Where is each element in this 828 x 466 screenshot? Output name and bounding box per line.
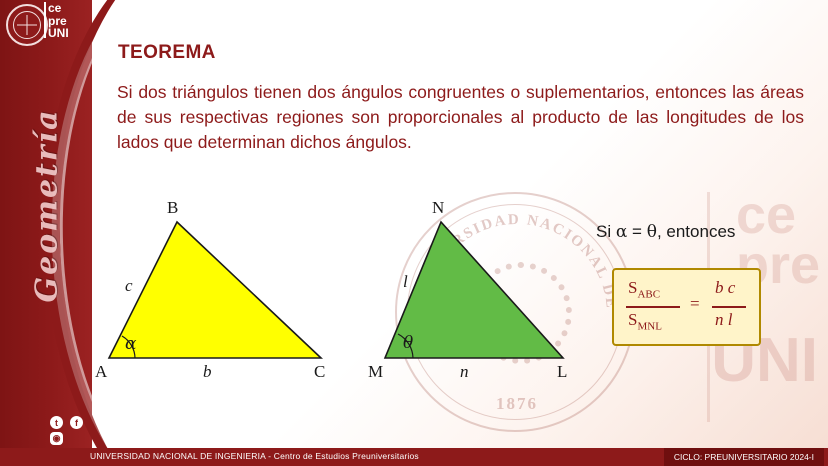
formula-denominator-s: SMNL (628, 310, 662, 332)
uni-logo (6, 4, 46, 44)
footer-right-text: CICLO: PREUNIVERSITARIO 2024-I (664, 448, 824, 466)
brand-line-uni: UNI (48, 27, 69, 40)
formula-numerator-s: SABC (628, 278, 660, 300)
formula-box: SABC SMNL = b c n l (612, 268, 761, 346)
social-icons: t f ◉ (48, 416, 92, 446)
subject-vertical-label: Geometría (30, 133, 65, 303)
formula-equals: = (690, 294, 700, 314)
instagram-icon[interactable]: ◉ (50, 432, 63, 445)
facebook-icon[interactable]: f (70, 416, 83, 429)
angle-arc-theta (355, 200, 585, 385)
formula-numerator-bc: b c (715, 278, 735, 298)
formula-numerator-sub: ABC (637, 288, 660, 300)
formula-fraction-bar-right (712, 306, 746, 308)
angle-arc-alpha (95, 200, 345, 385)
page-title: TEOREMA (118, 42, 216, 64)
brand-separator (44, 2, 46, 38)
condition-equals: = (627, 222, 646, 241)
theorem-body-text: Si dos triángulos tienen dos ángulos con… (117, 80, 804, 155)
formula-denominator-nl: n l (715, 310, 732, 330)
condition-prefix: Si (596, 222, 616, 241)
watermark-seal-year: 1876 (397, 394, 637, 414)
footer-left-strong: UNIVERSIDAD NACIONAL DE INGENIERIA (90, 451, 266, 461)
formula-denominator-sub: MNL (637, 320, 661, 332)
slide-root: ce pre UNI UNIVERSIDAD NACIONAL DE INGEN… (0, 0, 828, 466)
footer-left-rest: - Centro de Estudios Preuniversitarios (266, 451, 419, 461)
footer-bar: UNIVERSIDAD NACIONAL DE INGENIERIA - Cen… (0, 448, 828, 466)
watermark-ghost-line-ce: ce (736, 190, 820, 240)
condition-alpha: α (616, 222, 627, 242)
formula-fraction-bar-left (626, 306, 680, 308)
figure-triangle-abc: B A C c b α (95, 200, 345, 385)
uni-logo-inner (13, 11, 41, 39)
condition-suffix: , entonces (657, 222, 735, 241)
condition-theta: θ (647, 222, 657, 242)
twitter-icon[interactable]: t (50, 416, 63, 429)
footer-left-text: UNIVERSIDAD NACIONAL DE INGENIERIA - Cen… (90, 451, 419, 461)
condition-text: Si α = θ, entonces (596, 222, 735, 242)
brand-name: ce pre UNI (48, 2, 69, 40)
formula-content: SABC SMNL = b c n l (614, 270, 759, 344)
brand-line-ce: ce (48, 2, 69, 15)
uni-logo-circle (6, 4, 48, 46)
figure-triangle-mnl: N M L l n θ (355, 200, 585, 385)
